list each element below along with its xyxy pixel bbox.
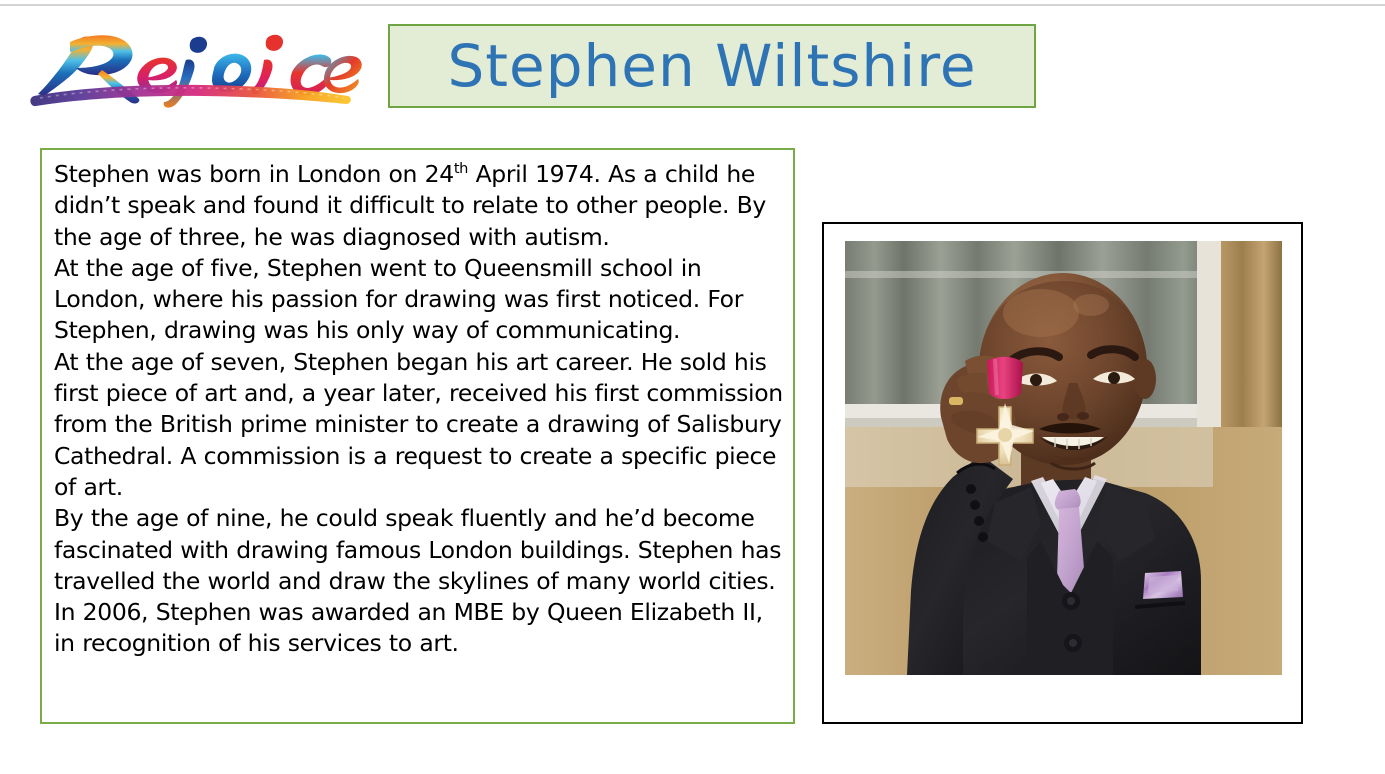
paragraph-2: At the age of five, Stephen went to Quee…	[54, 254, 751, 345]
stephen-wiltshire-photo	[845, 241, 1282, 675]
slide-title-banner: Stephen Wiltshire	[388, 24, 1036, 108]
paragraph-1-part-1: Stephen was born in London on 24	[54, 160, 454, 188]
paragraph-3: At the age of seven, Stephen began his a…	[54, 348, 790, 501]
page-title: Stephen Wiltshire	[447, 37, 976, 95]
photo-frame	[822, 222, 1303, 724]
biography-text-box: Stephen was born in London on 24th April…	[40, 148, 795, 724]
ordinal-suffix: th	[454, 160, 468, 177]
biography-text: Stephen was born in London on 24th April…	[54, 159, 783, 660]
paragraph-4: By the age of nine, he could speak fluen…	[54, 504, 789, 595]
paragraph-5: In 2006, Stephen was awarded an MBE by Q…	[54, 598, 770, 657]
rejoice-logo	[18, 22, 363, 112]
top-divider	[0, 4, 1385, 6]
